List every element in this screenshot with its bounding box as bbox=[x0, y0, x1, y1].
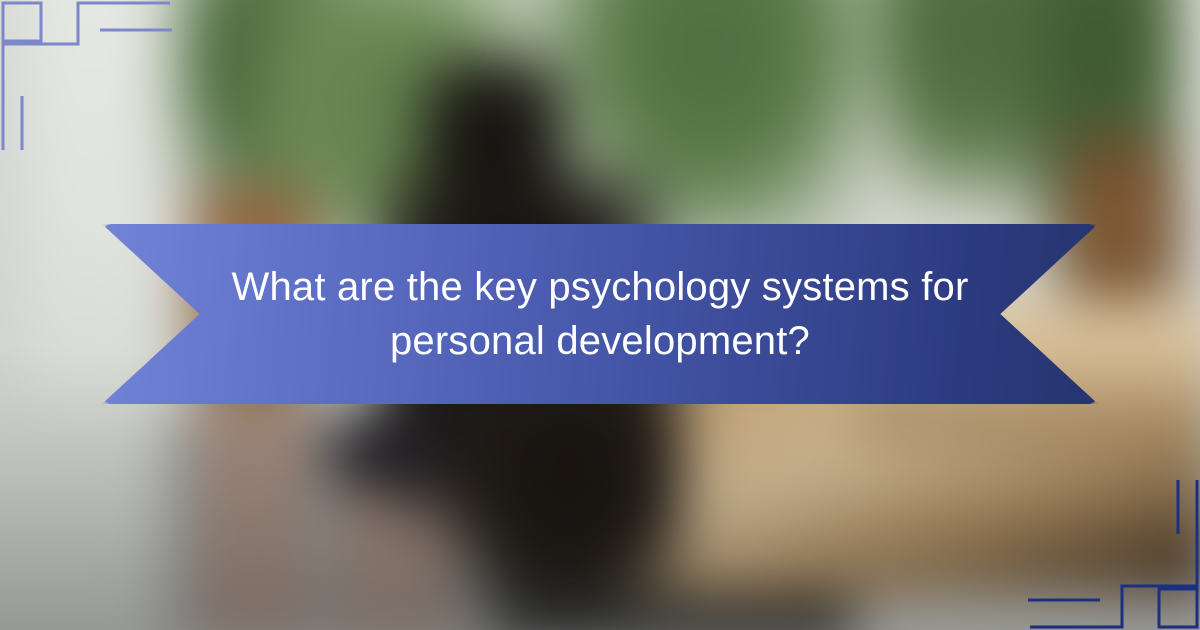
social-card: What are the key psychology systems for … bbox=[0, 0, 1200, 630]
rug-stripe-2 bbox=[274, 416, 291, 630]
headline-ribbon: What are the key psychology systems for … bbox=[102, 224, 1098, 404]
shoes-layer bbox=[324, 416, 451, 490]
headline-text: What are the key psychology systems for … bbox=[214, 224, 986, 404]
rug-stripe-1 bbox=[218, 416, 235, 630]
